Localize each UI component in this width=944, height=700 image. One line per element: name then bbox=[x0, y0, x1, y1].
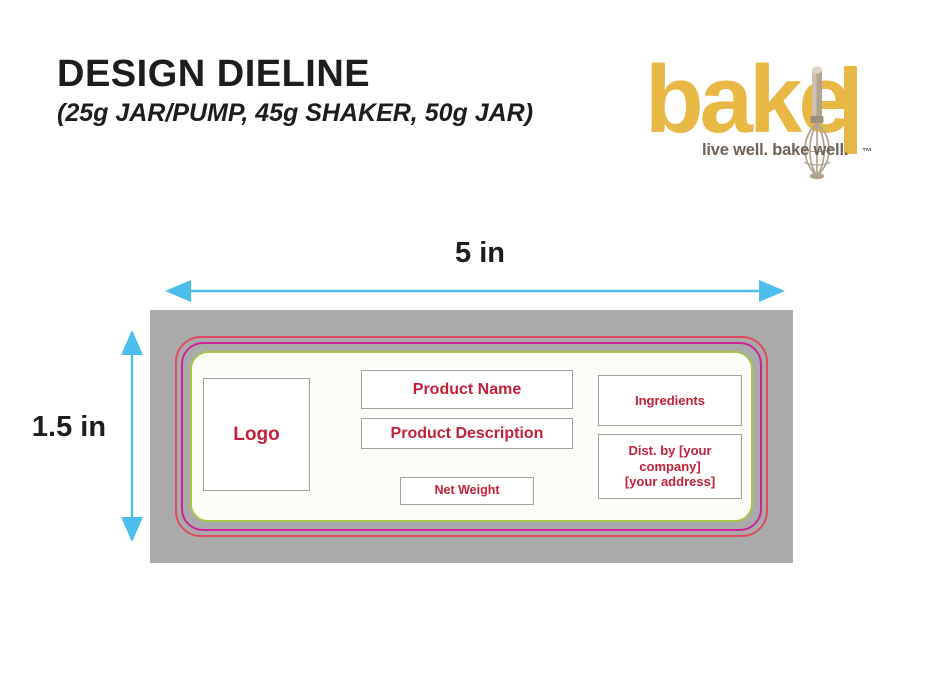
product-description-box[interactable]: Product Description bbox=[361, 418, 573, 449]
logo-tagline: live well. bake well. bbox=[702, 141, 848, 160]
distributor-box[interactable]: Dist. by [your company] [your address] bbox=[598, 434, 742, 499]
distributor-line-2: company] bbox=[625, 459, 715, 475]
distributor-line-1: Dist. by [your bbox=[625, 443, 715, 459]
ingredients-box[interactable]: Ingredients bbox=[598, 375, 742, 426]
height-dimension-arrow bbox=[117, 330, 147, 542]
width-dimension-label: 5 in bbox=[420, 237, 540, 270]
page-subtitle: (25g JAR/PUMP, 45g SHAKER, 50g JAR) bbox=[57, 99, 677, 128]
net-weight-box[interactable]: Net Weight bbox=[400, 477, 534, 505]
brand-logo: bake bbox=[645, 52, 895, 177]
trademark-symbol: ™ bbox=[862, 147, 872, 158]
width-dimension-arrow bbox=[165, 276, 785, 306]
height-dimension-label: 1.5 in bbox=[14, 411, 124, 444]
whisk-icon bbox=[796, 64, 838, 182]
distributor-line-3: [your address] bbox=[625, 474, 715, 490]
header: DESIGN DIELINE (25g JAR/PUMP, 45g SHAKER… bbox=[0, 0, 944, 200]
page-title: DESIGN DIELINE bbox=[57, 55, 677, 95]
title-block: DESIGN DIELINE (25g JAR/PUMP, 45g SHAKER… bbox=[57, 55, 677, 128]
dieline-panel: Logo Product Name Product Description Ne… bbox=[150, 310, 793, 563]
logo-placeholder-box[interactable]: Logo bbox=[203, 378, 310, 491]
product-name-box[interactable]: Product Name bbox=[361, 370, 573, 409]
